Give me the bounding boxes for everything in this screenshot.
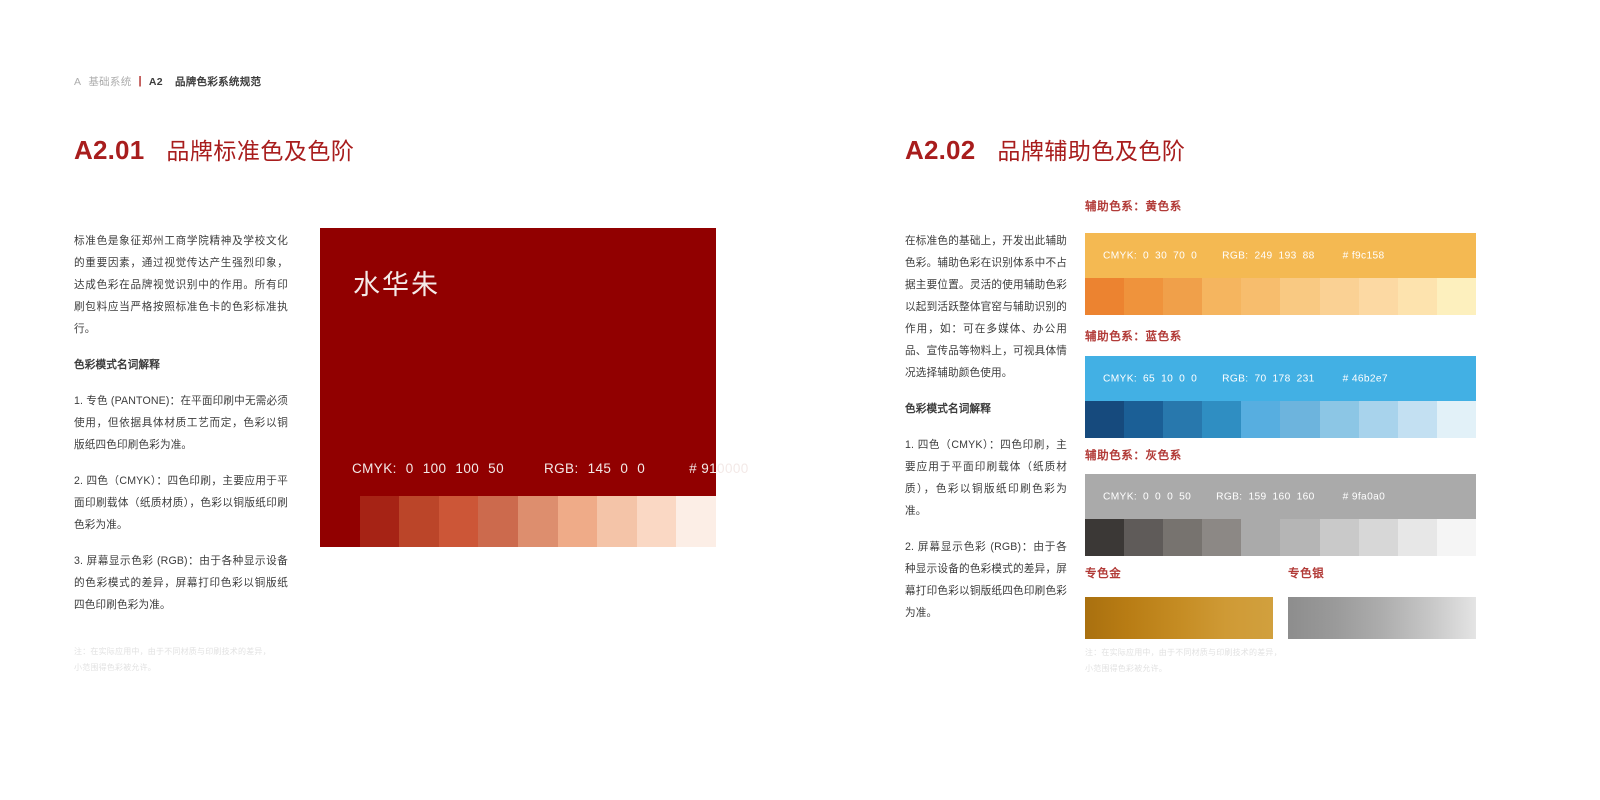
aux-gray-hex: # 9fa0a0 xyxy=(1343,491,1385,502)
aux-yellow-cmyk-m: 30 xyxy=(1155,250,1167,261)
aux-blue-rgb-g: 178 xyxy=(1273,373,1291,384)
aux-blue-rgb-label: RGB: xyxy=(1222,373,1248,384)
primary-color-values: CMYK: 0 100 100 50 RGB: 145 0 0 # 910000 xyxy=(352,461,749,476)
primary-color-name: 水华朱 xyxy=(353,263,440,302)
spot-color-silver: 专色银 xyxy=(1288,565,1476,639)
breadcrumb-sub-name: 品牌色彩系统规范 xyxy=(175,74,261,89)
aux-yellow-values: CMYK: 0 30 70 0 RGB: 249 193 88 # f9c158 xyxy=(1103,250,1385,261)
primary-rgb-g: 0 xyxy=(620,461,628,476)
spot-color-gold: 专色金 xyxy=(1085,565,1273,639)
aux-color-ramp-blue xyxy=(1085,401,1476,438)
ramp-step xyxy=(1398,519,1437,556)
right-title-number: A2.02 xyxy=(905,135,975,166)
spot-color-silver-label: 专色银 xyxy=(1288,565,1476,581)
ramp-step xyxy=(439,496,479,547)
right-paragraph-3: 1. 四色（CMYK）：四色印刷，主要应用于平面印刷载体（纸质材质），色彩以铜版… xyxy=(905,434,1067,522)
aux-blue-rgb-r: 70 xyxy=(1254,373,1266,384)
breadcrumb-section-letter: A xyxy=(74,76,81,88)
aux-gray-cmyk-label: CMYK: xyxy=(1103,491,1137,502)
primary-cmyk-k: 50 xyxy=(488,461,504,476)
ramp-step xyxy=(1124,519,1163,556)
aux-yellow-cmyk-c: 0 xyxy=(1143,250,1149,261)
left-footnote-line-1: 注：在实际应用中，由于不同材质与印刷技术的差异， xyxy=(74,644,271,660)
aux-gray-rgb-label: RGB: xyxy=(1216,491,1242,502)
right-footnote-line-1: 注：在实际应用中，由于不同材质与印刷技术的差异， xyxy=(1085,645,1282,661)
ramp-step xyxy=(1398,401,1437,438)
ramp-step xyxy=(1241,278,1280,315)
aux-gray-cmyk-k: 50 xyxy=(1179,491,1191,502)
right-footnote-line-2: 小范围得色彩被允许。 xyxy=(1085,661,1282,677)
ramp-step xyxy=(1398,278,1437,315)
aux-blue-cmyk-c: 65 xyxy=(1143,373,1155,384)
ramp-step xyxy=(1163,401,1202,438)
left-body-text: 标准色是象征郑州工商学院精神及学校文化的重要因素，通过视觉传达产生强烈印象，达成… xyxy=(74,230,288,616)
breadcrumb-sub-code: A2 xyxy=(149,76,163,88)
left-footnote: 注：在实际应用中，由于不同材质与印刷技术的差异， 小范围得色彩被允许。 xyxy=(74,644,271,677)
ramp-step xyxy=(1085,519,1124,556)
aux-blue-cmyk-k: 0 xyxy=(1191,373,1197,384)
aux-color-block-gray: CMYK: 0 0 0 50 RGB: 159 160 160 # 9fa0a0 xyxy=(1085,474,1476,556)
left-paragraph-4: 2. 四色（CMYK）：四色印刷，主要应用于平面印刷载体（纸质材质），色彩以铜版… xyxy=(74,470,288,536)
ramp-step xyxy=(1163,519,1202,556)
left-paragraph-2: 色彩模式名词解释 xyxy=(74,354,288,376)
ramp-step xyxy=(1202,401,1241,438)
ramp-step xyxy=(1359,278,1398,315)
ramp-step xyxy=(1437,278,1476,315)
primary-color-ramp xyxy=(320,496,716,547)
ramp-step xyxy=(1202,278,1241,315)
right-title-text: 品牌辅助色及色阶 xyxy=(997,132,1185,166)
left-title-number: A2.01 xyxy=(74,135,144,166)
aux-color-label-blue: 辅助色系：蓝色系 xyxy=(1085,328,1182,344)
aux-blue-rgb-b: 231 xyxy=(1297,373,1315,384)
aux-swatch-blue: CMYK: 65 10 0 0 RGB: 70 178 231 # 46b2e7 xyxy=(1085,356,1476,401)
primary-cmyk-m: 100 xyxy=(423,461,447,476)
primary-cmyk-values: 0 100 100 50 xyxy=(406,461,504,476)
ramp-step xyxy=(1241,401,1280,438)
left-footnote-line-2: 小范围得色彩被允许。 xyxy=(74,660,271,676)
ramp-step xyxy=(1437,519,1476,556)
ramp-step xyxy=(1124,401,1163,438)
ramp-step xyxy=(1202,519,1241,556)
spot-color-gold-label: 专色金 xyxy=(1085,565,1273,581)
aux-gray-cmyk-y: 0 xyxy=(1167,491,1173,502)
ramp-step xyxy=(1085,401,1124,438)
left-page-title: A2.01 品牌标准色及色阶 xyxy=(74,132,354,166)
ramp-step xyxy=(518,496,558,547)
ramp-step xyxy=(1280,401,1319,438)
aux-yellow-cmyk-k: 0 xyxy=(1191,250,1197,261)
primary-rgb-values: 145 0 0 xyxy=(588,461,646,476)
breadcrumb-section-name: 基础系统 xyxy=(88,74,131,89)
spot-color-gold-swatch xyxy=(1085,597,1273,639)
aux-blue-cmyk-label: CMYK: xyxy=(1103,373,1137,384)
ramp-step xyxy=(1359,519,1398,556)
ramp-step xyxy=(1437,401,1476,438)
ramp-step xyxy=(1124,278,1163,315)
breadcrumb-divider: | xyxy=(139,76,142,87)
left-paragraph-3: 1. 专色 (PANTONE)：在平面印刷中无需必须使用，但依据具体材质工艺而定… xyxy=(74,390,288,456)
ramp-step xyxy=(1320,278,1359,315)
ramp-step xyxy=(1359,401,1398,438)
aux-yellow-rgb-label: RGB: xyxy=(1222,250,1248,261)
right-paragraph-1: 在标准色的基础上，开发出此辅助色彩。辅助色彩在识别体系中不占据主要位置。灵活的使… xyxy=(905,230,1067,384)
aux-color-ramp-gray xyxy=(1085,519,1476,556)
left-paragraph-1: 标准色是象征郑州工商学院精神及学校文化的重要因素，通过视觉传达产生强烈印象，达成… xyxy=(74,230,288,340)
ramp-step xyxy=(1280,278,1319,315)
aux-yellow-cmyk-y: 70 xyxy=(1173,250,1185,261)
right-page-title: A2.02 品牌辅助色及色阶 xyxy=(905,132,1185,166)
aux-blue-cmyk-y: 0 xyxy=(1179,373,1185,384)
ramp-step xyxy=(1320,519,1359,556)
ramp-step xyxy=(637,496,677,547)
primary-cmyk-label: CMYK: xyxy=(352,461,397,476)
ramp-step xyxy=(1280,519,1319,556)
aux-gray-cmyk-c: 0 xyxy=(1143,491,1149,502)
brand-guideline-spread: A 基础系统 | A2 品牌色彩系统规范 A2.01 品牌标准色及色阶 标准色是… xyxy=(0,0,1600,800)
primary-color-swatch: 水华朱 CMYK: 0 100 100 50 RGB: 145 0 0 # 91… xyxy=(320,228,716,496)
aux-gray-rgb-g: 160 xyxy=(1273,491,1291,502)
primary-rgb-r: 145 xyxy=(588,461,612,476)
ramp-step xyxy=(360,496,400,547)
aux-yellow-cmyk-label: CMYK: xyxy=(1103,250,1137,261)
right-footnote: 注：在实际应用中，由于不同材质与印刷技术的差异， 小范围得色彩被允许。 xyxy=(1085,645,1282,678)
ramp-step xyxy=(597,496,637,547)
aux-yellow-rgb-r: 249 xyxy=(1254,250,1272,261)
aux-blue-hex: # 46b2e7 xyxy=(1343,373,1388,384)
aux-color-block-blue: CMYK: 65 10 0 0 RGB: 70 178 231 # 46b2e7 xyxy=(1085,356,1476,438)
primary-cmyk-y: 100 xyxy=(455,461,479,476)
aux-color-label-gray: 辅助色系：灰色系 xyxy=(1085,447,1182,463)
ramp-step xyxy=(558,496,598,547)
ramp-step xyxy=(1085,278,1124,315)
aux-gray-values: CMYK: 0 0 0 50 RGB: 159 160 160 # 9fa0a0 xyxy=(1103,491,1385,502)
aux-blue-cmyk-m: 10 xyxy=(1161,373,1173,384)
left-paragraph-5: 3. 屏幕显示色彩 (RGB)：由于各种显示设备的色彩模式的差异，屏幕打印色彩以… xyxy=(74,550,288,616)
ramp-step xyxy=(676,496,716,547)
aux-yellow-rgb-b: 88 xyxy=(1303,250,1315,261)
aux-swatch-gray: CMYK: 0 0 0 50 RGB: 159 160 160 # 9fa0a0 xyxy=(1085,474,1476,519)
ramp-step xyxy=(1163,278,1202,315)
aux-yellow-hex: # f9c158 xyxy=(1343,250,1385,261)
aux-yellow-rgb-g: 193 xyxy=(1279,250,1297,261)
primary-rgb-label: RGB: xyxy=(544,461,579,476)
aux-color-label-yellow: 辅助色系：黄色系 xyxy=(1085,198,1182,214)
primary-cmyk-c: 0 xyxy=(406,461,414,476)
right-paragraph-2: 色彩模式名词解释 xyxy=(905,398,1067,420)
aux-swatch-yellow: CMYK: 0 30 70 0 RGB: 249 193 88 # f9c158 xyxy=(1085,233,1476,278)
right-body-text: 在标准色的基础上，开发出此辅助色彩。辅助色彩在识别体系中不占据主要位置。灵活的使… xyxy=(905,230,1067,625)
ramp-step xyxy=(399,496,439,547)
spot-color-silver-swatch xyxy=(1288,597,1476,639)
aux-color-block-yellow: CMYK: 0 30 70 0 RGB: 249 193 88 # f9c158 xyxy=(1085,233,1476,315)
aux-color-ramp-yellow xyxy=(1085,278,1476,315)
ramp-step xyxy=(320,496,360,547)
ramp-step xyxy=(1320,401,1359,438)
primary-rgb-b: 0 xyxy=(637,461,645,476)
aux-gray-rgb-r: 159 xyxy=(1248,491,1266,502)
ramp-step xyxy=(1241,519,1280,556)
right-paragraph-4: 2. 屏幕显示色彩 (RGB)：由于各种显示设备的色彩模式的差异，屏幕打印色彩以… xyxy=(905,536,1067,624)
aux-blue-values: CMYK: 65 10 0 0 RGB: 70 178 231 # 46b2e7 xyxy=(1103,373,1388,384)
ramp-step xyxy=(478,496,518,547)
left-title-text: 品牌标准色及色阶 xyxy=(166,132,354,166)
aux-gray-rgb-b: 160 xyxy=(1297,491,1315,502)
aux-gray-cmyk-m: 0 xyxy=(1155,491,1161,502)
primary-hex-value: # 910000 xyxy=(689,461,749,476)
breadcrumb: A 基础系统 | A2 品牌色彩系统规范 xyxy=(74,74,261,89)
